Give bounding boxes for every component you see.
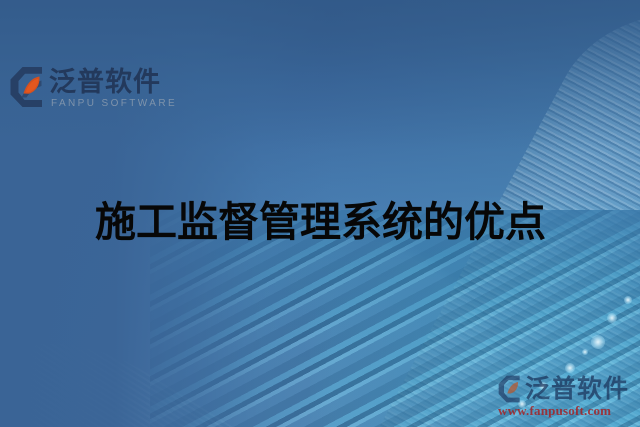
brand-name-cn: 泛普软件 (49, 67, 177, 97)
watermark-brand-row: 泛普软件 (496, 375, 629, 403)
brand-name-en: FANPU SOFTWARE (49, 97, 177, 110)
fanpu-logo-icon (496, 375, 522, 403)
promotional-banner: 泛普软件 FANPU SOFTWARE 施工监督管理系统的优点 泛普软件 www… (0, 0, 640, 427)
brand-logo: 泛普软件 FANPU SOFTWARE (9, 66, 177, 110)
page-title: 施工监督管理系统的优点 (95, 198, 546, 246)
watermark-brand-cn: 泛普软件 (525, 375, 629, 403)
watermark: 泛普软件 www.fanpusoft.com (496, 375, 636, 423)
fanpu-logo-icon (9, 66, 43, 108)
brand-logo-text: 泛普软件 FANPU SOFTWARE (49, 66, 177, 110)
watermark-url: www.fanpusoft.com (498, 403, 611, 419)
